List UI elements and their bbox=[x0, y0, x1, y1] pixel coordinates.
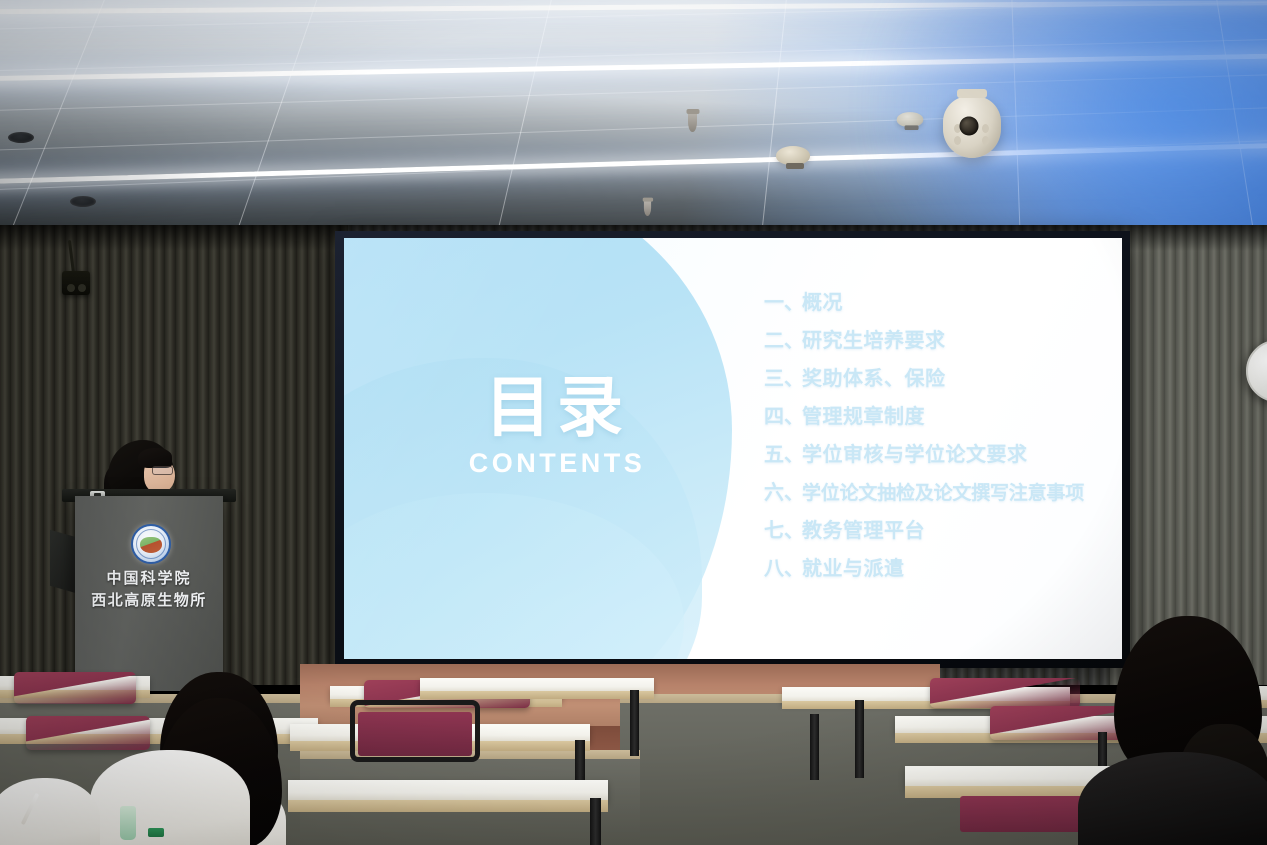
lecture-hall-scene: 目录 CONTENTS 一、 概况 二、 研究生培养要求 三、 奖助体系、保险 bbox=[0, 0, 1267, 845]
water-bottle bbox=[120, 806, 136, 840]
podium-institute-name: 西北高原生物所 bbox=[75, 590, 223, 612]
toc-item-label: 学位审核与学位论文要求 bbox=[802, 438, 1028, 467]
toc-item[interactable]: 二、 研究生培养要求 bbox=[764, 324, 1114, 353]
smoke-detector-icon bbox=[897, 112, 924, 127]
toc-item-label: 教务管理平台 bbox=[802, 514, 925, 543]
desk bbox=[288, 780, 608, 802]
toc-item-label: 奖助体系、保险 bbox=[802, 362, 946, 391]
toc-item-number: 一、 bbox=[764, 286, 802, 315]
cas-institute-emblem-icon bbox=[131, 524, 171, 564]
toc-item[interactable]: 一、 概况 bbox=[764, 286, 1114, 315]
toc-item-number: 六、 bbox=[764, 476, 802, 505]
toc-item-label: 学位论文抽检及论文撰写注意事项 bbox=[802, 478, 1084, 505]
toc-item[interactable]: 七、 教务管理平台 bbox=[764, 514, 1114, 543]
toc-item-number: 八、 bbox=[764, 552, 802, 581]
chair[interactable] bbox=[14, 672, 136, 704]
slide-title-cn: 目录 bbox=[422, 374, 692, 441]
toc-item[interactable]: 四、 管理规章制度 bbox=[764, 400, 1114, 429]
podium-org-name: 中国科学院 bbox=[75, 568, 223, 590]
fire-sprinkler-icon bbox=[688, 112, 697, 132]
presentation-slide: 目录 CONTENTS 一、 概况 二、 研究生培养要求 三、 奖助体系、保险 bbox=[344, 238, 1122, 659]
toc-item-number: 七、 bbox=[764, 514, 802, 543]
toc-item-label: 管理规章制度 bbox=[802, 400, 925, 429]
ptz-dome-camera-icon bbox=[943, 96, 1001, 158]
glasses-icon bbox=[152, 466, 173, 475]
podium: 中国科学院 西北高原生物所 bbox=[75, 496, 223, 691]
chair[interactable] bbox=[930, 678, 1080, 708]
toc-item-label: 就业与派遣 bbox=[802, 552, 905, 581]
audience-member bbox=[0, 768, 92, 845]
toc-item-number: 四、 bbox=[764, 400, 802, 429]
toc-item-label: 研究生培养要求 bbox=[802, 324, 946, 353]
toc-item[interactable]: 五、 学位审核与学位论文要求 bbox=[764, 438, 1114, 467]
toc-item[interactable]: 八、 就业与派遣 bbox=[764, 552, 1114, 581]
projection-screen[interactable]: 目录 CONTENTS 一、 概况 二、 研究生培养要求 三、 奖助体系、保险 bbox=[335, 231, 1130, 668]
ceiling bbox=[0, 0, 1267, 232]
table-of-contents: 一、 概况 二、 研究生培养要求 三、 奖助体系、保险 四、 管理规章制度 bbox=[764, 286, 1114, 590]
toc-item[interactable]: 三、 奖助体系、保险 bbox=[764, 362, 1114, 391]
smoke-detector-icon bbox=[776, 146, 810, 165]
toc-item-number: 二、 bbox=[764, 324, 802, 353]
audience-member bbox=[1100, 616, 1267, 845]
slide-title-en: CONTENTS bbox=[422, 448, 692, 479]
toc-item-number: 三、 bbox=[764, 362, 802, 391]
wall-speaker-icon bbox=[62, 271, 90, 295]
slide-title-group: 目录 CONTENTS bbox=[422, 374, 692, 479]
fire-sprinkler-icon bbox=[644, 200, 651, 216]
toc-item[interactable]: 六、 学位论文抽检及论文撰写注意事项 bbox=[764, 476, 1114, 505]
podium-text-group: 中国科学院 西北高原生物所 bbox=[75, 568, 223, 612]
audience-member bbox=[90, 728, 250, 845]
toc-item-number: 五、 bbox=[764, 438, 802, 467]
name-badge bbox=[148, 828, 164, 837]
presenter-fringe bbox=[138, 448, 172, 468]
toc-item-label: 概况 bbox=[802, 286, 843, 315]
